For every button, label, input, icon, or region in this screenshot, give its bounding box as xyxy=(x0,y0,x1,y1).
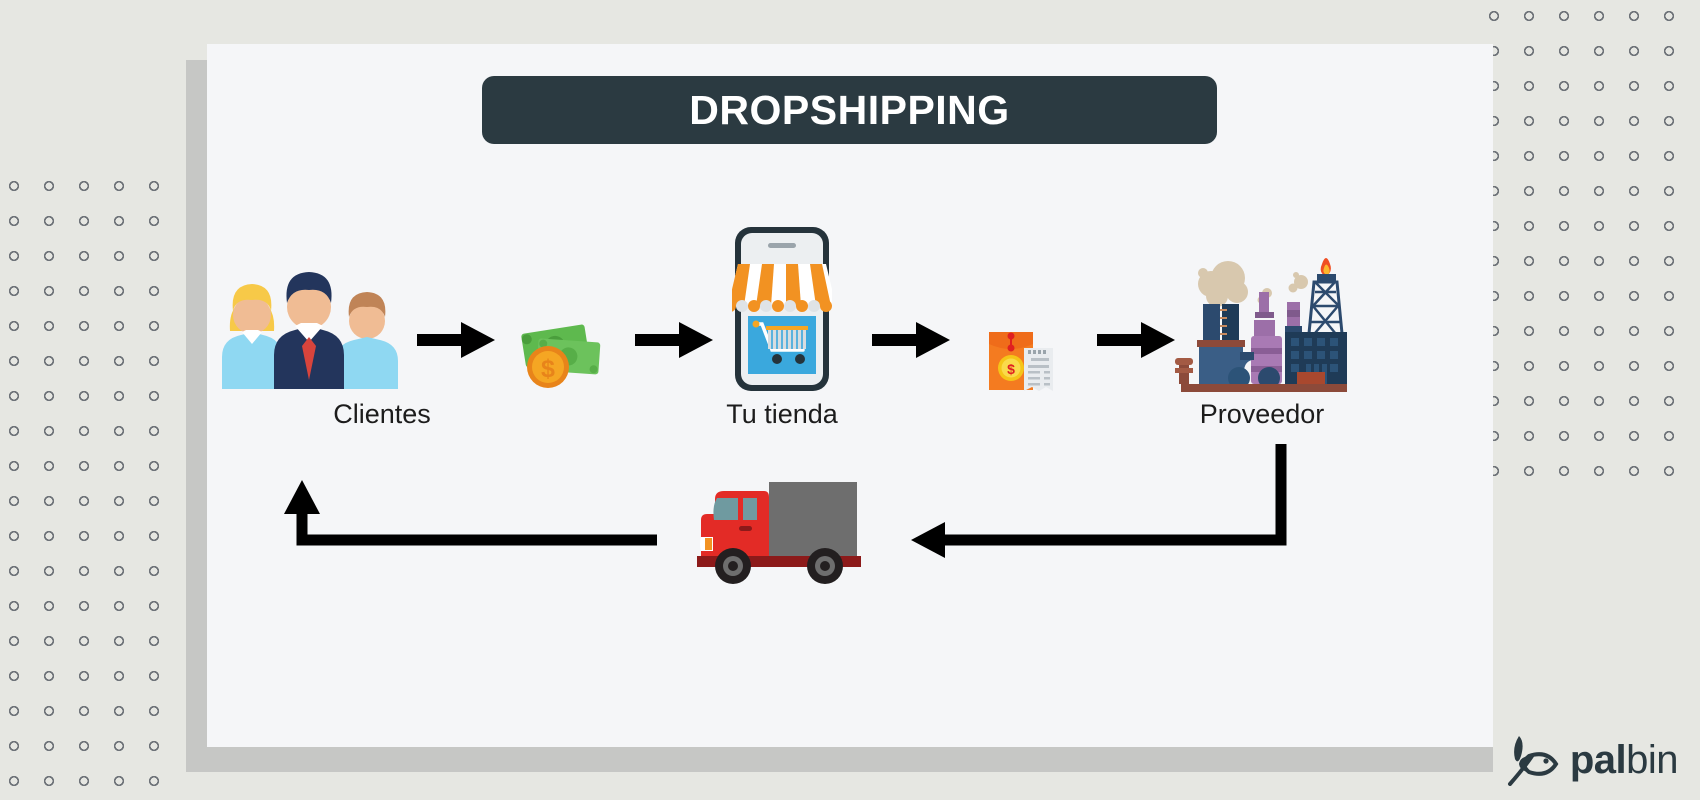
infographic-card: DROPSHIPPING Clientes xyxy=(207,44,1493,747)
logo-text-bold: pal xyxy=(1570,738,1626,782)
flow-diagram: Clientes $ xyxy=(207,44,1493,747)
dot-pattern-right xyxy=(1486,8,1698,478)
factory-icon xyxy=(1175,244,1353,392)
money-cash-icon: $ xyxy=(517,322,607,392)
arrow-tienda-pedido xyxy=(872,319,952,361)
arrow-dinero-tienda xyxy=(635,319,715,361)
palbin-wordmark: palbin xyxy=(1570,738,1678,783)
node-label-proveedor: Proveedor xyxy=(1132,399,1392,430)
logo-text-light: bin xyxy=(1626,738,1678,782)
mobile-store-icon xyxy=(732,224,832,394)
invoice-envelope-icon: $ xyxy=(987,324,1059,396)
node-label-tu-tienda: Tu tienda xyxy=(652,399,912,430)
node-label-clientes: Clientes xyxy=(252,399,512,430)
palbin-logo: palbin xyxy=(1505,734,1678,786)
delivery-truck-icon xyxy=(697,474,867,584)
fish-icon xyxy=(1505,734,1560,786)
dot-pattern-left xyxy=(6,178,182,798)
people-group-icon xyxy=(212,259,402,389)
svg-text:$: $ xyxy=(541,355,555,383)
arrow-clientes-dinero xyxy=(417,319,497,361)
arrow-proveedor-camion xyxy=(907,444,1307,574)
arrow-pedido-proveedor xyxy=(1097,319,1177,361)
svg-text:$: $ xyxy=(1007,361,1015,377)
arrow-camion-clientes xyxy=(277,444,677,574)
